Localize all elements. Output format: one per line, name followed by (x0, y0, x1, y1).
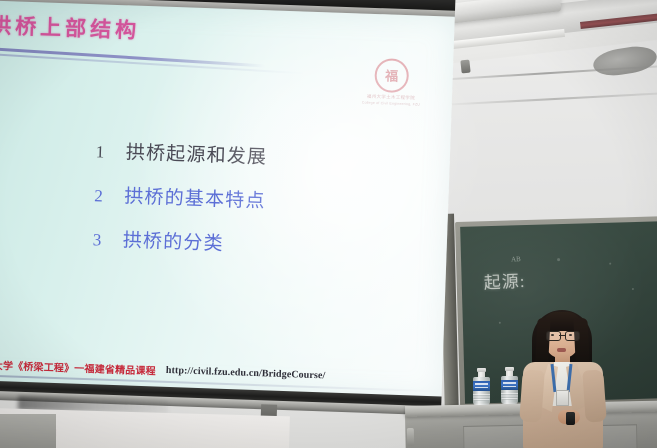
bottle-ridges (501, 393, 518, 400)
slide-footer: 福州大学《桥梁工程》一福建省精品课程 http://civil.fzu.edu.… (0, 356, 326, 383)
wall-sensor-icon (460, 60, 470, 74)
chalk-dust-mark (499, 322, 501, 324)
university-seal-icon: 福 (374, 58, 409, 93)
bottle-label-line (503, 382, 516, 384)
logo-caption-en: College of Civil Engineering, FZU (362, 101, 420, 107)
bottle-body (473, 377, 490, 405)
bottle-label (501, 380, 518, 390)
presentation-clicker (566, 412, 575, 425)
desk-left-section (0, 414, 56, 448)
agenda-item-number: 1 (96, 142, 127, 163)
water-bottle (473, 368, 490, 405)
agenda-item: 3 拱桥的分类 (92, 224, 264, 257)
slide-canvas: 拱桥上部结构 福 福州大学土木工程学院 College of Civil Eng… (0, 0, 455, 400)
chalk-dust-mark (632, 288, 634, 290)
chalk-writing: 起源: (483, 267, 526, 294)
projection-screen: 拱桥上部结构 福 福州大学土木工程学院 College of Civil Eng… (0, 0, 456, 432)
bottle-label-line (475, 387, 488, 389)
agenda-item-number: 3 (92, 230, 123, 251)
chalk-dust-mark (609, 263, 611, 265)
university-logo: 福 福州大学土木工程学院 College of Civil Engineerin… (362, 58, 422, 107)
bottle-label (473, 381, 490, 391)
glasses-icon (546, 331, 578, 339)
presenter-arm-right (582, 369, 607, 422)
bottle-label-line (475, 383, 488, 385)
bottle-label-line (503, 386, 516, 388)
footer-course-url: http://civil.fzu.edu.cn/BridgeCourse/ (166, 365, 326, 382)
presenter (518, 306, 610, 448)
presenter-arm-left (519, 369, 545, 422)
id-badge (556, 390, 569, 406)
chalk-small-note: AB (511, 255, 521, 263)
agenda-item-label: 拱桥的基本特点 (124, 181, 266, 213)
bottle-ridges (473, 394, 490, 401)
agenda-item-number: 2 (94, 186, 125, 207)
slide-title: 拱桥上部结构 (0, 10, 141, 45)
water-bottle (501, 367, 518, 404)
glasses-lens-right (565, 331, 580, 341)
agenda-item: 1 拱桥起源和发展 (95, 136, 267, 169)
chalk-dust-mark (557, 258, 560, 261)
glasses-lens-left (546, 331, 561, 341)
bottle-body (501, 376, 518, 404)
presenter-mouth (557, 348, 566, 352)
slide-agenda-list: 1 拱桥起源和发展 2 拱桥的基本特点 3 拱桥的分类 (92, 136, 268, 274)
title-divider-secondary (0, 52, 305, 75)
agenda-item-label: 拱桥起源和发展 (125, 137, 267, 169)
agenda-item-label: 拱桥的分类 (122, 225, 224, 256)
podium-side-notch (407, 428, 414, 446)
lecture-hall-photo: AB 起源: 拱桥上部结构 福 福州大学土木工程学院 College of Ci… (0, 0, 657, 448)
agenda-item: 2 拱桥的基本特点 (94, 180, 266, 213)
footer-course-label: 福州大学《桥梁工程》一福建省精品课程 (0, 356, 156, 377)
